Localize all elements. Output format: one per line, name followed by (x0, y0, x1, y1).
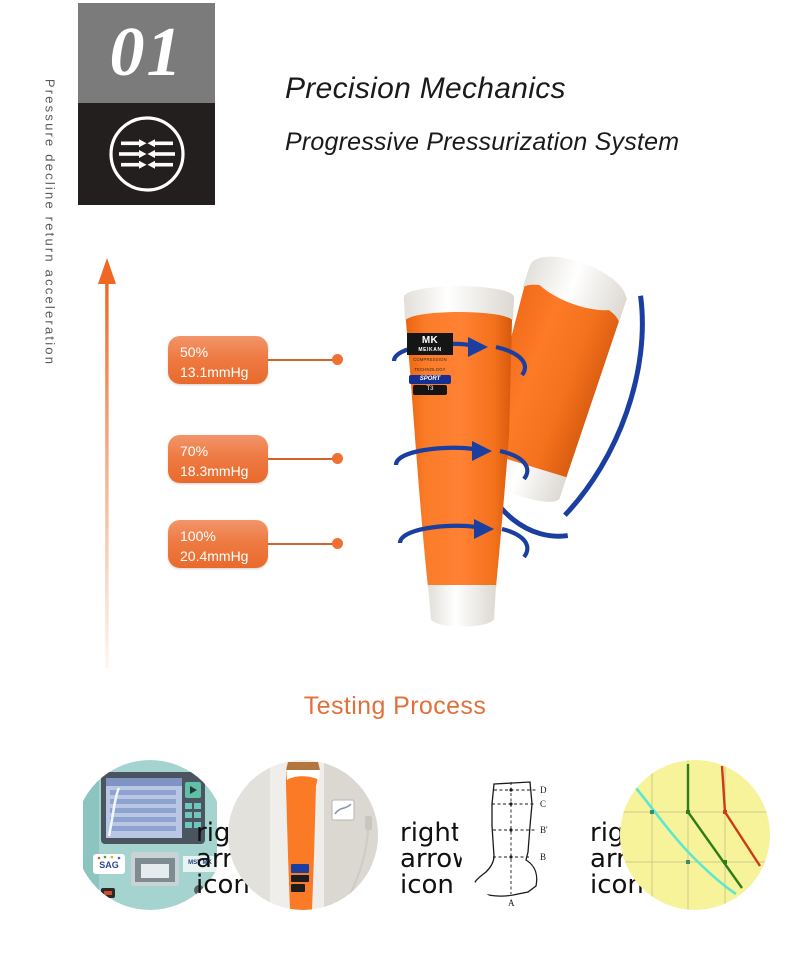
pressure-ruler-axis (96, 258, 126, 668)
callout-pressure: 18.3mmHg (180, 461, 268, 481)
leg-point-label-d: D (540, 785, 547, 795)
title-group: Precision Mechanics Progressive Pressuri… (285, 72, 765, 157)
callout-leader-dot (332, 538, 343, 549)
leg-point-label-c: C (540, 799, 546, 809)
callout-pressure: 13.1mmHg (180, 362, 268, 382)
infographic-page: 01 Precision Mechanics Progressive Pre (0, 0, 790, 967)
section-number: 01 (78, 3, 215, 103)
page-title: Precision Mechanics (285, 72, 765, 106)
callout-percent: 100% (180, 528, 216, 544)
leg-measurement-diagram: D C B' B A (458, 760, 608, 910)
callout-pill: 100% 20.4mmHg (168, 520, 268, 568)
brand-name: MEIKAN (407, 346, 453, 353)
badge-sport: SPORT (409, 375, 451, 385)
callout-leader-dot (332, 354, 343, 365)
testing-step-3[interactable]: D C B' B A (458, 760, 608, 910)
product-image-group: MK MEIKAN COMPRESSION TECHNOLOGY SPORT T… (360, 255, 790, 675)
testing-step-4[interactable] (620, 760, 770, 910)
axis-label: Pressure decline return acceleration (43, 78, 58, 368)
process-arrow-1: right-arrow-icon (196, 820, 230, 898)
process-arrow-3: right-arrow-icon (590, 820, 624, 898)
brand-logo-box: MK MEIKAN (407, 333, 453, 355)
pressure-curve-chart (620, 760, 770, 910)
testing-process-title: Testing Process (0, 692, 790, 721)
callout-pill: 70% 18.3mmHg (168, 435, 268, 483)
callout-percent: 70% (180, 443, 208, 459)
brand-tech-line-2: TECHNOLOGY (407, 365, 453, 374)
section-icon-block (78, 103, 215, 205)
callout-leader-line (268, 543, 336, 545)
callout-leader-dot (332, 453, 343, 464)
axis-arrowhead (98, 258, 116, 284)
badge-model: T3 (413, 385, 447, 395)
sleeve-test-stand-photo (228, 760, 378, 910)
section-number-block: 01 (78, 3, 215, 103)
callout-percent: 50% (180, 344, 208, 360)
svg-text:SAG: SAG (99, 860, 119, 870)
process-arrow-2: right-arrow-icon (400, 820, 434, 898)
product-brand-tag: MK MEIKAN COMPRESSION TECHNOLOGY SPORT T… (407, 333, 453, 396)
testing-process-row: SAG MST MK right-arrow-icon (0, 760, 790, 915)
callout-leader-line (268, 359, 336, 361)
callout-pill: 50% 13.1mmHg (168, 336, 268, 384)
testing-step-2[interactable] (228, 760, 378, 910)
page-subtitle: Progressive Pressurization System (285, 106, 765, 157)
leg-point-label-b: B (540, 852, 546, 862)
leg-point-label-a: A (508, 898, 515, 908)
leg-point-label-b-prime: B' (540, 825, 548, 835)
brand-tech-line-1: COMPRESSION (407, 355, 453, 364)
callout-pressure: 20.4mmHg (180, 546, 268, 566)
callout-leader-line (268, 458, 336, 460)
compression-arrows-icon (104, 111, 190, 197)
brand-monogram: MK (407, 336, 453, 346)
